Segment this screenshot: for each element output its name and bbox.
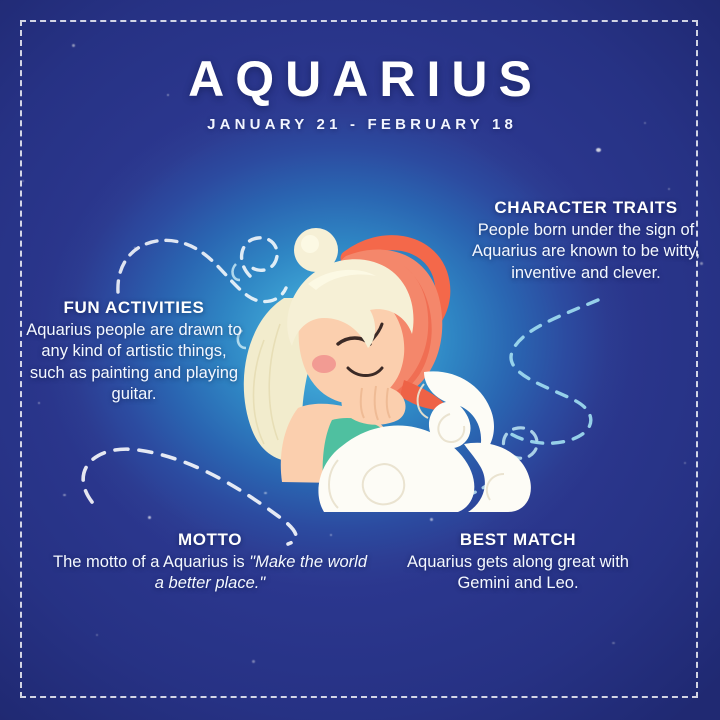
section-heading-motto: MOTTO <box>52 530 368 550</box>
hair-bun-highlight <box>301 235 319 253</box>
section-motto: MOTTO The motto of a Aquarius is "Make t… <box>52 530 368 595</box>
section-character-traits: CHARACTER TRAITS People born under the s… <box>468 198 704 284</box>
section-body-fun-activities: Aquarius people are drawn to any kind of… <box>22 320 246 406</box>
section-heading-best-match: BEST MATCH <box>382 530 654 550</box>
section-fun-activities: FUN ACTIVITIES Aquarius people are drawn… <box>22 298 246 406</box>
blush <box>312 355 336 373</box>
section-heading-fun-activities: FUN ACTIVITIES <box>22 298 246 318</box>
section-body-best-match: Aquarius gets along great with Gemini an… <box>382 552 654 595</box>
poster-header: AQUARIUS JANUARY 21 - FEBRUARY 18 <box>0 52 720 133</box>
section-body-motto: The motto of a Aquarius is "Make the wor… <box>52 552 368 595</box>
page-title: AQUARIUS <box>0 52 720 106</box>
section-heading-character-traits: CHARACTER TRAITS <box>468 198 704 218</box>
zodiac-poster: AQUARIUS JANUARY 21 - FEBRUARY 18 <box>0 0 720 720</box>
section-best-match: BEST MATCH Aquarius gets along great wit… <box>382 530 654 595</box>
section-body-character-traits: People born under the sign of Aquarius a… <box>468 220 704 284</box>
motto-intro: The motto of a Aquarius is <box>53 553 245 571</box>
date-range: JANUARY 21 - FEBRUARY 18 <box>0 116 720 133</box>
